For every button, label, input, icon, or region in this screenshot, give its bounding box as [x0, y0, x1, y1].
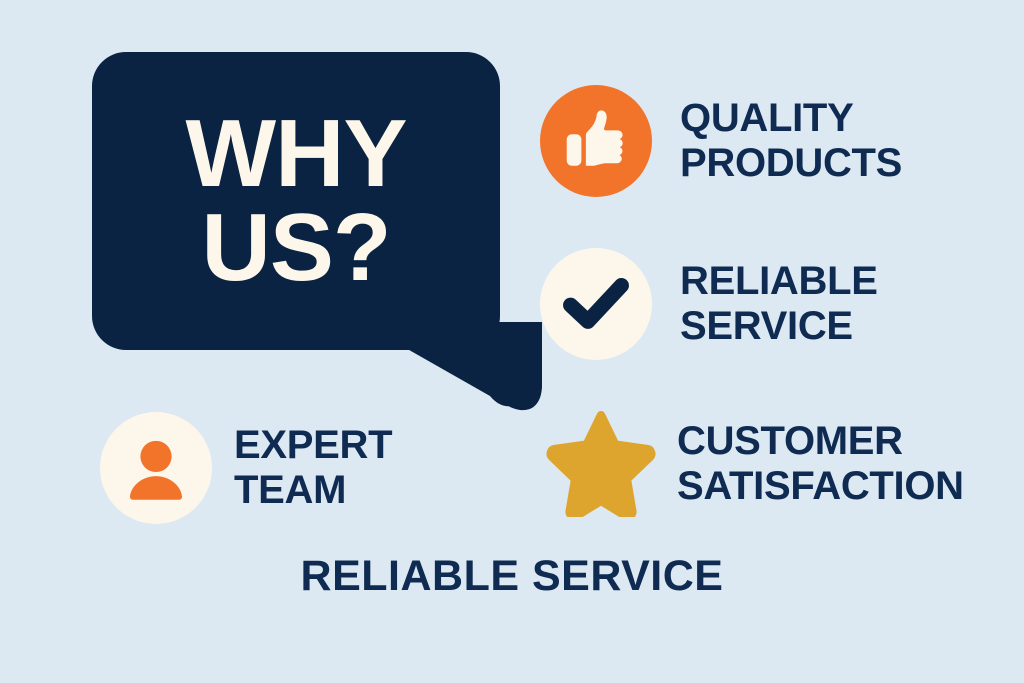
feature-icon-wrapper — [540, 85, 652, 197]
star-icon — [545, 408, 657, 520]
check-mark-icon — [540, 248, 652, 360]
person-icon — [100, 412, 212, 524]
feature-icon-wrapper — [545, 408, 657, 520]
feature-item-quality-products[interactable]: QUALITY PRODUCTS — [540, 85, 902, 197]
feature-item-customer-satisfaction[interactable]: CUSTOMER SATISFACTION — [545, 408, 964, 520]
feature-label-quality-products: QUALITY PRODUCTS — [680, 96, 902, 186]
feature-label-expert-team: EXPERT TEAM — [234, 423, 392, 513]
poster-canvas: WHY US? QUALITY PRODUCTS — [0, 0, 1024, 683]
thumbs-up-icon — [540, 85, 652, 197]
page-title: WHY US? — [92, 52, 500, 350]
feature-label-reliable-service: RELIABLE SERVICE — [680, 259, 878, 349]
feature-label-customer-satisfaction: CUSTOMER SATISFACTION — [677, 419, 964, 509]
page-title-line-2: US? — [202, 201, 391, 295]
feature-icon-wrapper — [540, 248, 652, 360]
bottom-banner-text: RELIABLE SERVICE — [0, 552, 1024, 601]
feature-item-reliable-service[interactable]: RELIABLE SERVICE — [540, 248, 878, 360]
speech-bubble: WHY US? — [92, 52, 500, 407]
feature-item-expert-team[interactable]: EXPERT TEAM — [100, 412, 392, 524]
feature-icon-wrapper — [100, 412, 212, 524]
page-title-line-1: WHY — [186, 107, 407, 201]
